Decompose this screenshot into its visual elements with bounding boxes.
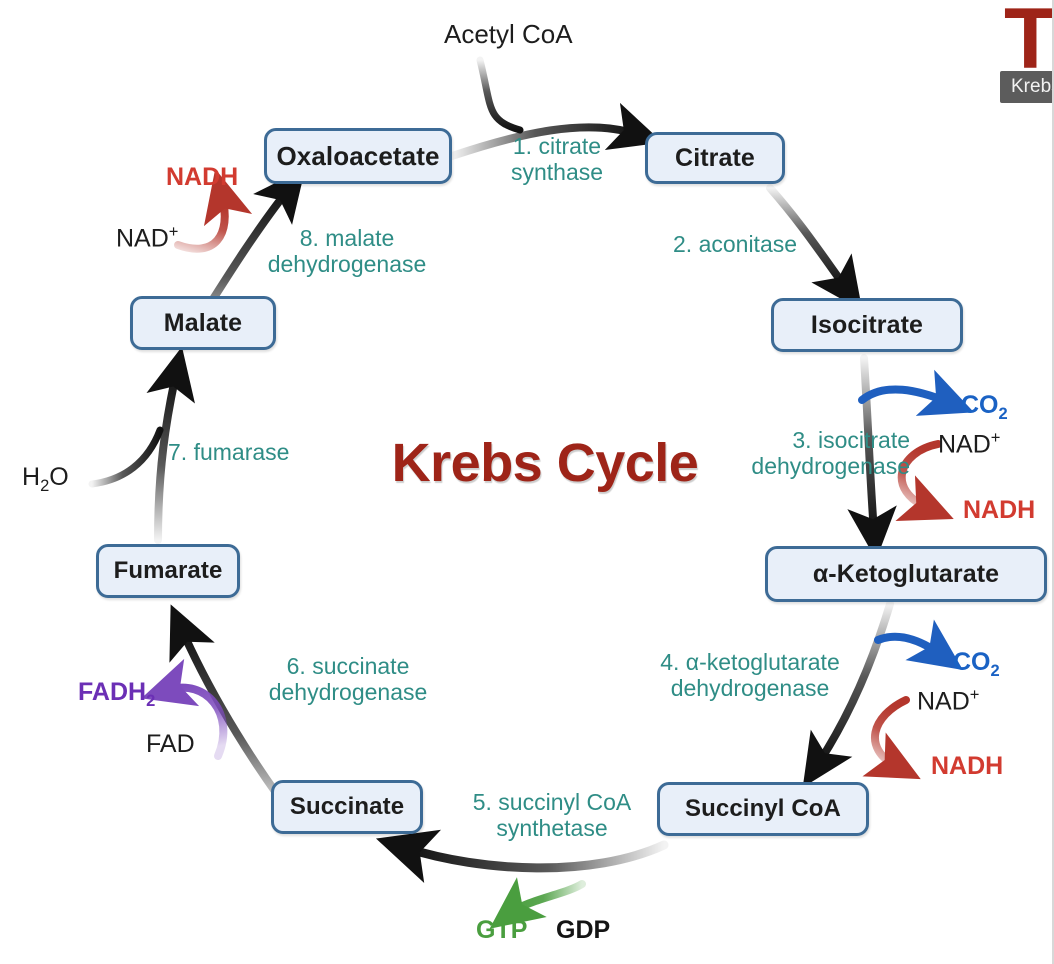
tooltip: Krebs xyxy=(1000,71,1054,103)
node-label: α-Ketoglutarate xyxy=(813,560,999,589)
enzyme-line-2: dehydrogenase xyxy=(258,252,436,278)
label-gdp: GDP xyxy=(556,916,610,944)
node-label: Citrate xyxy=(675,144,755,173)
node-label: Isocitrate xyxy=(811,311,923,340)
node-label: Oxaloacetate xyxy=(276,141,439,172)
enzyme-label-8-malate-dehydrogenase: 8. malate dehydrogenase xyxy=(258,226,436,278)
enzyme-line-2: synthetase xyxy=(452,816,652,842)
label-nadh-alpha-ketoglutarate: NADH xyxy=(931,752,1003,780)
enzyme-label-5-succinyl-coa-synthetase: 5. succinyl CoA synthetase xyxy=(452,790,652,842)
label-nadh-malate: NADH xyxy=(166,163,238,191)
gdp-to-gtp-arrow xyxy=(512,884,582,912)
enzyme-label-6-succinate-dehydrogenase: 6. succinate dehydrogenase xyxy=(242,654,454,706)
nad-to-nadh-arrow-alpha-ketoglutarate xyxy=(875,700,906,766)
nad-text: NAD xyxy=(917,687,970,715)
enzyme-line-2: synthase xyxy=(492,160,622,186)
water-inflow-arrow xyxy=(92,430,160,484)
node-citrate[interactable]: Citrate xyxy=(645,132,785,184)
enzyme-line-1: 8. malate xyxy=(258,226,436,252)
enzyme-line-1: 5. succinyl CoA xyxy=(452,790,652,816)
acetyl-coa-inflow-arrow xyxy=(480,60,520,130)
diagram-title: Krebs Cycle xyxy=(355,432,735,494)
arrow-succinyl-coa-to-succinate xyxy=(406,845,664,868)
enzyme-line-2: dehydrogenase xyxy=(640,676,860,702)
node-label: Succinate xyxy=(290,793,404,821)
nad-charge: + xyxy=(169,223,179,241)
co2-release-arrow-alpha-ketoglutarate xyxy=(878,637,940,654)
label-nad-alpha-ketoglutarate: NAD+ xyxy=(917,686,979,715)
label-co2-isocitrate: CO2 xyxy=(961,391,1008,423)
enzyme-line-2: dehydrogenase xyxy=(242,680,454,706)
label-nad-isocitrate: NAD+ xyxy=(938,429,1000,458)
node-label: Malate xyxy=(164,309,242,338)
nad-to-nadh-arrow-malate xyxy=(178,196,225,249)
krebs-cycle-diagram: Oxaloacetate Citrate Isocitrate α-Ketogl… xyxy=(0,0,1054,964)
node-alpha-ketoglutarate[interactable]: α-Ketoglutarate xyxy=(765,546,1047,602)
fad-text: FAD xyxy=(146,730,195,758)
label-co2-alpha-ketoglutarate: CO2 xyxy=(953,648,1000,680)
node-malate[interactable]: Malate xyxy=(130,296,276,350)
label-water: H2O xyxy=(22,463,69,495)
label-acetyl-coa: Acetyl CoA xyxy=(444,20,573,49)
label-fad: FAD xyxy=(146,730,195,758)
label-gtp: GTP xyxy=(476,916,527,944)
nad-text: NAD xyxy=(938,430,991,458)
gtp-text: GTP xyxy=(476,916,527,944)
nadh-text: NADH xyxy=(166,163,238,191)
nad-charge: + xyxy=(991,429,1001,447)
fadh2-text: FADH xyxy=(78,678,146,706)
fadh2-sub: 2 xyxy=(146,692,155,710)
co2-sub: 2 xyxy=(991,662,1000,680)
node-label: Fumarate xyxy=(114,557,223,585)
enzyme-line-1: 7. fumarase xyxy=(168,440,289,466)
enzyme-line-1: 1. citrate xyxy=(492,134,622,160)
label-fadh2: FADH2 xyxy=(78,678,155,710)
co2-text: CO xyxy=(961,391,999,419)
enzyme-label-4-alpha-ketoglutarate-dehydrogenase: 4. α-ketoglutarate dehydrogenase xyxy=(640,650,860,702)
node-label: Succinyl CoA xyxy=(685,795,841,823)
node-fumarate[interactable]: Fumarate xyxy=(96,544,240,598)
node-isocitrate[interactable]: Isocitrate xyxy=(771,298,963,352)
water-o: O xyxy=(49,463,68,491)
gdp-text: GDP xyxy=(556,916,610,944)
nad-text: NAD xyxy=(116,224,169,252)
co2-release-arrow-isocitrate xyxy=(862,389,948,402)
enzyme-line-1: 4. α-ketoglutarate xyxy=(640,650,860,676)
enzyme-label-2-aconitase: 2. aconitase xyxy=(673,232,797,258)
label-nad-malate: NAD+ xyxy=(116,223,178,252)
water-h: H xyxy=(22,463,40,491)
overlay-heading-letter: T xyxy=(1004,0,1054,82)
co2-text: CO xyxy=(953,648,991,676)
enzyme-label-7-fumarase: 7. fumarase xyxy=(168,440,289,466)
nad-charge: + xyxy=(970,686,980,704)
tooltip-label: Krebs xyxy=(1011,76,1054,98)
node-oxaloacetate[interactable]: Oxaloacetate xyxy=(264,128,452,184)
enzyme-label-1-citrate-synthase: 1. citrate synthase xyxy=(492,134,622,186)
nadh-text: NADH xyxy=(963,496,1035,524)
water-sub: 2 xyxy=(40,477,49,495)
label-nadh-isocitrate: NADH xyxy=(963,496,1035,524)
node-succinate[interactable]: Succinate xyxy=(271,780,423,834)
enzyme-line-1: 2. aconitase xyxy=(673,232,797,258)
enzyme-line-1: 6. succinate xyxy=(242,654,454,680)
acetyl-coa-text: Acetyl CoA xyxy=(444,19,573,49)
node-succinyl-coa[interactable]: Succinyl CoA xyxy=(657,782,869,836)
co2-sub: 2 xyxy=(999,405,1008,423)
nadh-text: NADH xyxy=(931,752,1003,780)
